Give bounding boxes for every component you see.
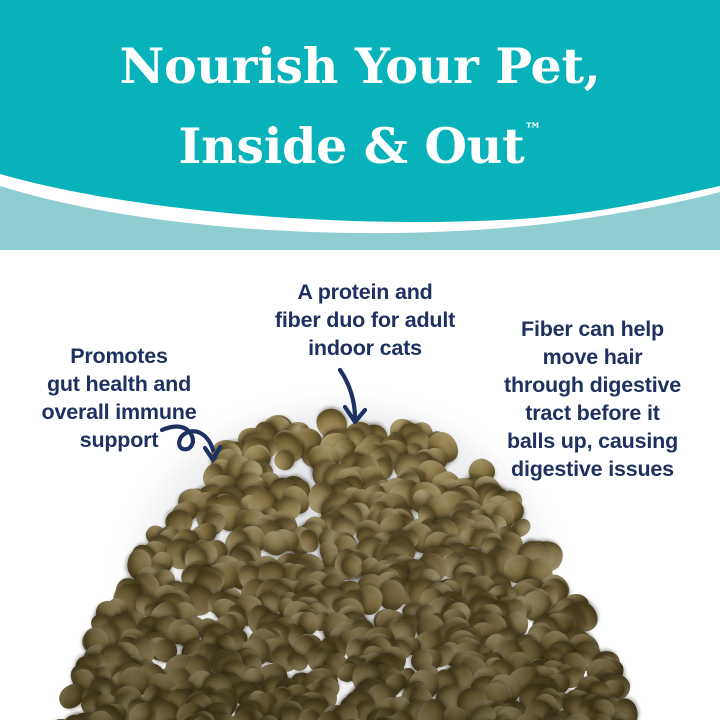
title-line-2-text: Inside & Out xyxy=(179,117,525,175)
curved-arrow-down-icon xyxy=(330,368,388,434)
trademark-symbol: ™ xyxy=(524,120,541,140)
header-band: Nourish Your Pet, Inside & Out™ xyxy=(0,0,720,250)
callout-right-line-2: move hair xyxy=(475,343,710,371)
callout-middle-line-1: A protein and xyxy=(250,278,480,306)
callout-right-line-1: Fiber can help xyxy=(475,315,710,343)
callout-middle: A protein and fiber duo for adult indoor… xyxy=(250,278,480,362)
callout-right-line-4: tract before it xyxy=(475,399,710,427)
callout-right-line-6: digestive issues xyxy=(475,455,710,483)
callout-middle-line-3: indoor cats xyxy=(250,334,480,362)
callout-right: Fiber can help move hair through digesti… xyxy=(475,315,710,483)
callout-middle-line-2: fiber duo for adult xyxy=(250,306,480,334)
title-line-2: Inside & Out™ xyxy=(0,98,720,178)
product-feature-graphic: Nourish Your Pet, Inside & Out™ Promotes… xyxy=(0,0,720,720)
callout-left-line-2: gut health and xyxy=(4,370,234,398)
curly-loop-arrow-down-right-icon xyxy=(160,418,240,480)
title-line-1: Nourish Your Pet, xyxy=(0,34,720,98)
callout-right-line-5: balls up, causing xyxy=(475,427,710,455)
callout-right-line-3: through digestive xyxy=(475,371,710,399)
page-title: Nourish Your Pet, Inside & Out™ xyxy=(0,34,720,178)
callout-left-line-1: Promotes xyxy=(4,342,234,370)
